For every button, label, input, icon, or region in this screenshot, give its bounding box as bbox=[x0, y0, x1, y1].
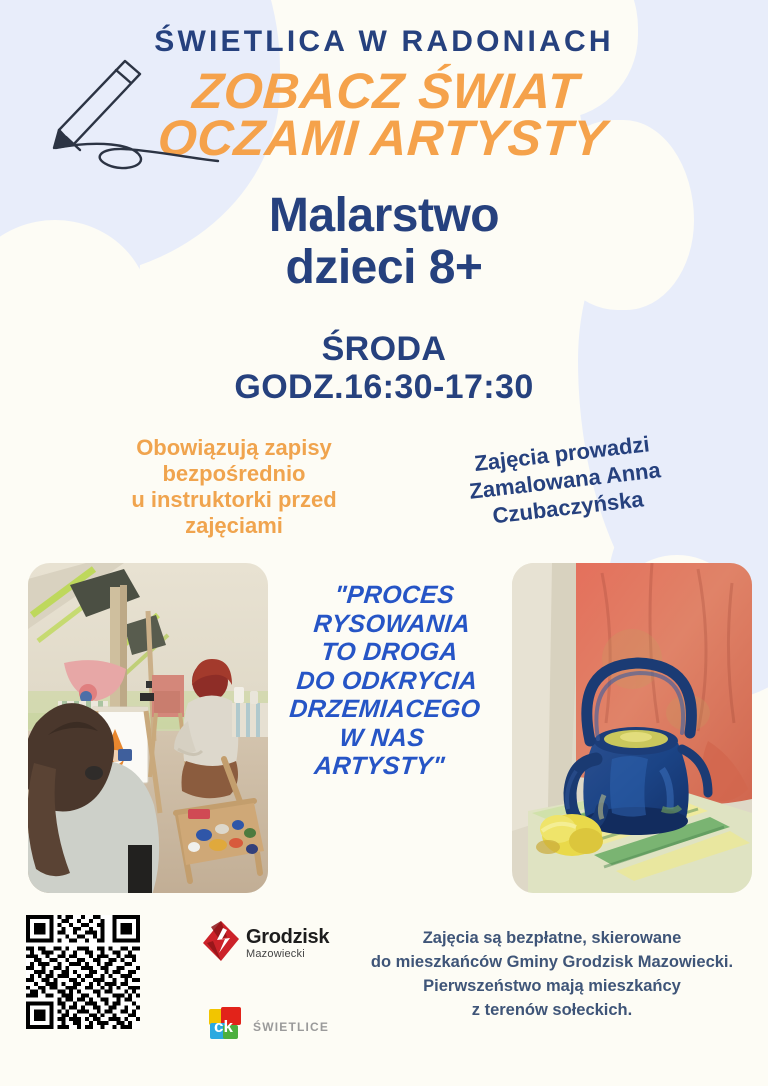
footer-note: Zajęcia są bezpłatne, skierowane do mies… bbox=[352, 927, 752, 1023]
quote-line-6: W NAS bbox=[286, 724, 478, 753]
grodzisk-emblem-icon bbox=[203, 921, 239, 966]
ck-swietlice-logo: ck ŚWIETLICE bbox=[209, 1007, 329, 1046]
footer-note-line-3: Pierwszeństwo mają mieszkańcy bbox=[352, 975, 752, 999]
registration-note-line-1: Obowiązują zapisy bbox=[84, 435, 384, 461]
grodzisk-subtitle: Mazowiecki bbox=[246, 949, 329, 960]
schedule-block: ŚRODA GODZ.16:30-17:30 bbox=[0, 330, 768, 408]
workshop-photo bbox=[28, 563, 268, 893]
footer-note-line-1: Zajęcia są bezpłatne, skierowane bbox=[352, 927, 752, 951]
quote-text: "PROCES RYSOWANIA TO DROGA DO ODKRYCIA D… bbox=[283, 581, 490, 781]
quote-line-7: ARTYSTY" bbox=[283, 752, 475, 781]
pencil-doodle-icon bbox=[28, 52, 258, 182]
footer: Grodzisk Mazowiecki ck ŚWIETLICE bbox=[0, 911, 768, 1071]
registration-note-line-3: u instruktorki przed bbox=[84, 487, 384, 513]
registration-note-line-4: zajęciami bbox=[84, 513, 384, 539]
footer-note-line-2: do mieszkańców Gminy Grodzisk Mazowiecki… bbox=[352, 951, 752, 975]
ck-wordmark: ŚWIETLICE bbox=[253, 1020, 329, 1034]
quote-line-2: RYSOWANIA bbox=[296, 610, 488, 639]
registration-note: Obowiązują zapisy bezpośrednio u instruk… bbox=[84, 435, 384, 539]
quote-line-3: TO DROGA bbox=[293, 638, 485, 667]
subject-heading: Malarstwo dzieci 8+ bbox=[0, 190, 768, 294]
qr-code[interactable] bbox=[26, 915, 140, 1034]
instructor-note: Zajęcia prowadzi Zamalowana Anna Czubacz… bbox=[416, 425, 713, 538]
quote-line-5: DRZEMIACEGO bbox=[288, 695, 480, 724]
notes-row: Obowiązują zapisy bezpośrednio u instruk… bbox=[0, 435, 768, 555]
footer-note-line-4: z terenów sołeckich. bbox=[352, 999, 752, 1023]
registration-note-line-2: bezpośrednio bbox=[84, 461, 384, 487]
grodzisk-logo: Grodzisk Mazowiecki bbox=[203, 921, 329, 966]
quote-line-4: DO ODKRYCIA bbox=[291, 667, 483, 696]
subject-line-2: dzieci 8+ bbox=[0, 242, 768, 294]
poster-root: ŚWIETLICA W RADONIACH ZOBACZ ŚWIAT OCZAM… bbox=[0, 0, 768, 1086]
artwork-photo bbox=[512, 563, 752, 893]
quote-line-1: "PROCES bbox=[298, 581, 490, 610]
svg-text:ck: ck bbox=[214, 1017, 233, 1036]
subject-line-1: Malarstwo bbox=[0, 190, 768, 242]
grodzisk-wordmark: Grodzisk Mazowiecki bbox=[246, 927, 329, 960]
ck-emblem-icon: ck bbox=[209, 1007, 245, 1046]
grodzisk-name: Grodzisk bbox=[246, 926, 329, 948]
page-kicker: ŚWIETLICA W RADONIACH bbox=[0, 0, 768, 59]
media-row: "PROCES RYSOWANIA TO DROGA DO ODKRYCIA D… bbox=[0, 563, 768, 893]
schedule-time: GODZ.16:30-17:30 bbox=[0, 368, 768, 407]
schedule-day: ŚRODA bbox=[0, 330, 768, 369]
